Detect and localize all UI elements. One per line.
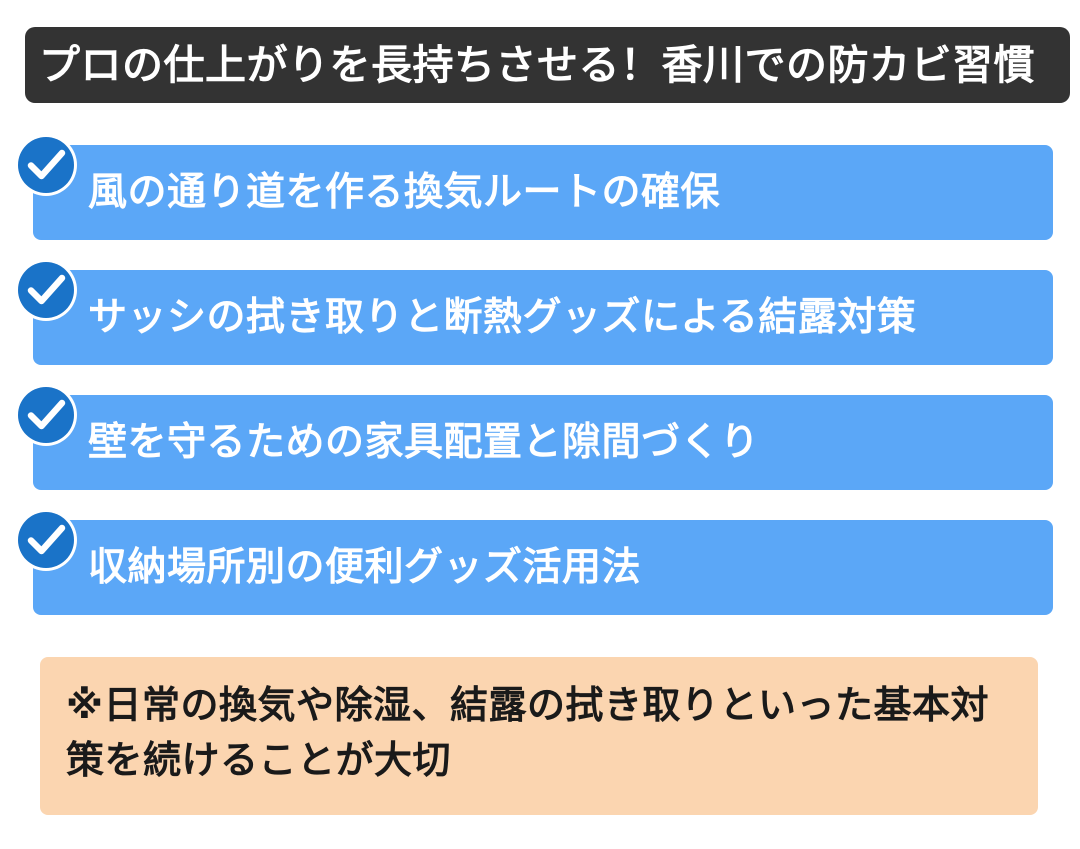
list-item: 壁を守るための家具配置と隙間づくり xyxy=(0,383,1080,478)
list-item: 風の通り道を作る換気ルートの確保 xyxy=(0,133,1080,228)
list-item-label: サッシの拭き取りと断熱グッズによる結露対策 xyxy=(88,298,916,337)
list-item-bar: サッシの拭き取りと断熱グッズによる結露対策 xyxy=(33,270,1053,365)
check-circle-icon xyxy=(14,383,78,447)
list-item: 収納場所別の便利グッズ活用法 xyxy=(0,508,1080,603)
check-circle-icon xyxy=(14,133,78,197)
list-item-bar: 風の通り道を作る換気ルートの確保 xyxy=(33,145,1053,240)
note-box: ※日常の換気や除湿、結露の拭き取りといった基本対策を続けることが大切 xyxy=(40,657,1038,815)
list-item-label: 収納場所別の便利グッズ活用法 xyxy=(88,548,641,587)
list-item-label: 壁を守るための家具配置と隙間づくり xyxy=(88,423,760,462)
check-circle-icon xyxy=(14,508,78,572)
list-item: サッシの拭き取りと断熱グッズによる結露対策 xyxy=(0,258,1080,353)
checklist: 風の通り道を作る換気ルートの確保 サッシの拭き取りと断熱グッズによる結露対策 xyxy=(0,133,1080,633)
list-item-label: 風の通り道を作る換気ルートの確保 xyxy=(88,173,720,212)
header-banner: プロの仕上がりを長持ちさせる！香川での防カビ習慣 xyxy=(25,27,1070,103)
note-text: ※日常の換気や除湿、結露の拭き取りといった基本対策を続けることが大切 xyxy=(66,679,1012,789)
check-circle-icon xyxy=(14,258,78,322)
page-title: プロの仕上がりを長持ちさせる！香川での防カビ習慣 xyxy=(39,45,1035,86)
infographic-poster: プロの仕上がりを長持ちさせる！香川での防カビ習慣 風の通り道を作る換気ルートの確… xyxy=(0,0,1080,849)
list-item-bar: 収納場所別の便利グッズ活用法 xyxy=(33,520,1053,615)
list-item-bar: 壁を守るための家具配置と隙間づくり xyxy=(33,395,1053,490)
